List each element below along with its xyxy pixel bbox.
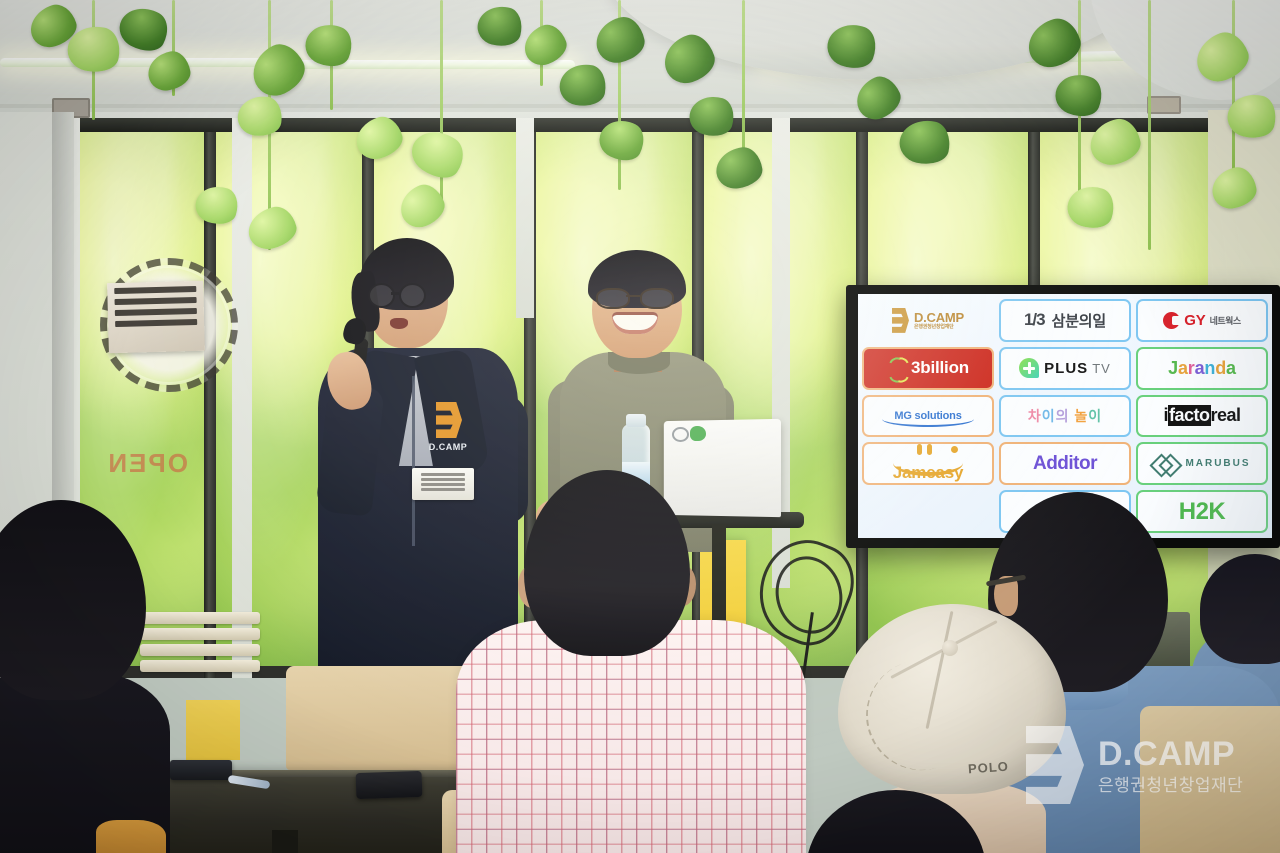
name-badge bbox=[412, 468, 474, 500]
logo-label: Additor bbox=[1033, 453, 1097, 475]
logo-h2k: H2K bbox=[1136, 490, 1268, 533]
event-photograph: OPEN bbox=[0, 0, 1280, 853]
jacket-logo-text: D.CAMP bbox=[418, 442, 478, 452]
yellow-banner bbox=[186, 700, 240, 760]
window-poster-card bbox=[107, 281, 205, 353]
logo-chaiui-nori: 차이의 놀이 bbox=[999, 395, 1131, 438]
ceiling-beam bbox=[0, 104, 1280, 108]
logo-label: 삼분의일 bbox=[1052, 310, 1106, 331]
cap-brand-label: POLO bbox=[968, 759, 1010, 777]
logo-third: 1/3 삼분의일 bbox=[999, 299, 1131, 342]
eyeglasses-icon bbox=[368, 283, 438, 305]
window-frame bbox=[516, 118, 534, 318]
dna-helix-icon bbox=[887, 357, 907, 379]
smartphone bbox=[356, 771, 423, 799]
gy-mark-icon bbox=[1163, 312, 1180, 329]
logo-label: H2K bbox=[1179, 498, 1226, 526]
mg-arc-icon bbox=[882, 411, 974, 427]
logo-gy-networks: GY 네트웍스 bbox=[1136, 299, 1268, 342]
chair bbox=[1140, 706, 1280, 853]
laptop-sticker bbox=[690, 426, 706, 441]
logo-sublabel: 네트웍스 bbox=[1210, 314, 1241, 327]
logo-marubus: MARUBUS bbox=[1136, 442, 1268, 485]
eyeglasses-icon bbox=[596, 288, 676, 306]
logo-3billion: 3billion bbox=[862, 347, 994, 390]
table-leg bbox=[272, 830, 298, 853]
collar bbox=[96, 820, 166, 853]
window-mullion bbox=[204, 118, 216, 678]
open-sign-text: OPEN bbox=[96, 448, 188, 478]
logo-sublabel: 은행권청년창업재단 bbox=[914, 325, 964, 330]
smiley-face-icon bbox=[891, 444, 965, 461]
logo-label: 3billion bbox=[911, 358, 969, 378]
stacked-planters bbox=[140, 612, 260, 682]
logo-label: PLUS bbox=[1044, 360, 1088, 377]
logo-factoreal: ifactoreal bbox=[1136, 395, 1268, 438]
laptop-brand-icon bbox=[672, 427, 689, 442]
dcamp-logo-icon bbox=[892, 308, 909, 333]
wall-fixture bbox=[1147, 96, 1181, 114]
logo-mg-solutions: MG solutions bbox=[862, 395, 994, 438]
wallet bbox=[170, 760, 232, 780]
bottle-cap bbox=[626, 414, 646, 427]
marubus-diamond-icon bbox=[1153, 455, 1179, 473]
fluorescent-tube-light bbox=[275, 60, 575, 69]
logo-label: D.CAMP bbox=[914, 311, 964, 325]
logo-additor: Additor bbox=[999, 442, 1131, 485]
logo-sublabel: TV bbox=[1092, 361, 1111, 376]
logo-plus-tv: PLUS TV bbox=[999, 347, 1131, 390]
dcamp-jacket-logo-icon bbox=[436, 402, 462, 438]
logo-jaranda: Jaranda bbox=[1136, 347, 1268, 390]
logo-placeholder bbox=[862, 490, 994, 533]
window-frame bbox=[232, 118, 252, 678]
logo-label: GY bbox=[1184, 312, 1205, 329]
logo-label: MARUBUS bbox=[1185, 458, 1250, 469]
logo-jameasy: Jameasy bbox=[862, 442, 994, 485]
plus-bubble-icon bbox=[1019, 358, 1039, 378]
logo-dcamp: D.CAMP 은행권청년창업재단 bbox=[862, 299, 994, 342]
fluorescent-tube-light bbox=[0, 58, 300, 67]
mouth bbox=[390, 318, 408, 329]
jacket-zipper bbox=[412, 376, 415, 546]
cap-button bbox=[942, 640, 958, 656]
logo-sublabel: 1/3 bbox=[1024, 310, 1045, 330]
